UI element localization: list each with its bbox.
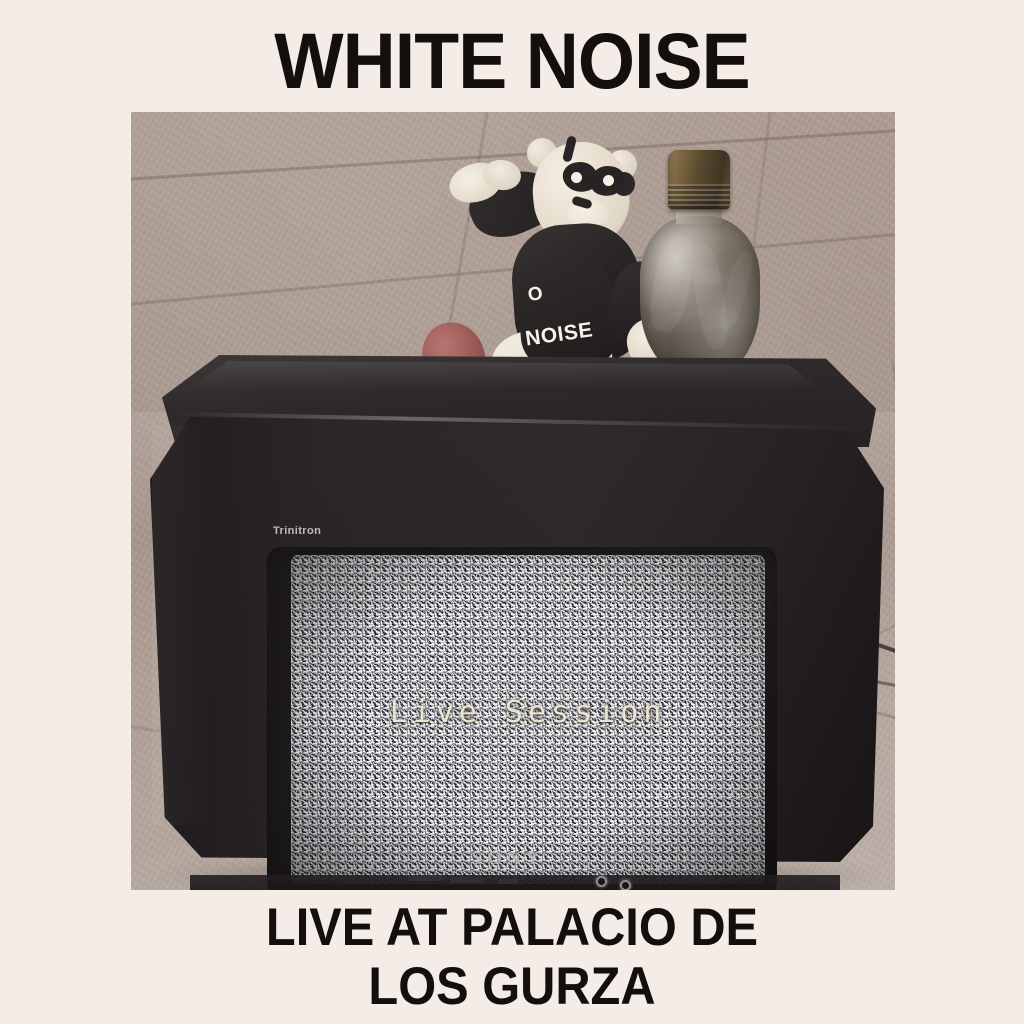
tv-av-jack[interactable] (596, 876, 607, 887)
tv-control-button[interactable] (498, 879, 518, 884)
screen-overlay-text: Live Session (291, 695, 765, 730)
album-subtitle: LIVE AT PALACIO DE LOS GURZA (41, 898, 983, 1016)
tv-left-face (152, 425, 210, 825)
tv-control-button[interactable] (450, 877, 484, 883)
tv-screen[interactable]: Live Session (291, 555, 765, 884)
perfume-bottle (636, 140, 766, 390)
tv-control-button[interactable] (408, 875, 442, 881)
bear-eye-left (571, 172, 582, 183)
album-subtitle-line-2: LOS GURZA (41, 957, 983, 1016)
tv-brand-logo: SONY (150, 848, 884, 870)
crt-television: Trinitron Live Session SONY (150, 355, 884, 890)
cover-photo: O NOISE (131, 112, 895, 890)
bear-jacket (515, 258, 620, 370)
perfume-cap-ridges (668, 184, 730, 210)
tv-av-jack[interactable] (620, 880, 631, 890)
bear-eye-right (603, 175, 614, 186)
album-title: WHITE NOISE (36, 18, 988, 104)
tv-top-sheen (190, 361, 820, 389)
album-cover: WHITE NOISE (0, 0, 1024, 1024)
album-subtitle-line-1: LIVE AT PALACIO DE (266, 898, 758, 957)
tv-tube-label: Trinitron (273, 525, 321, 537)
